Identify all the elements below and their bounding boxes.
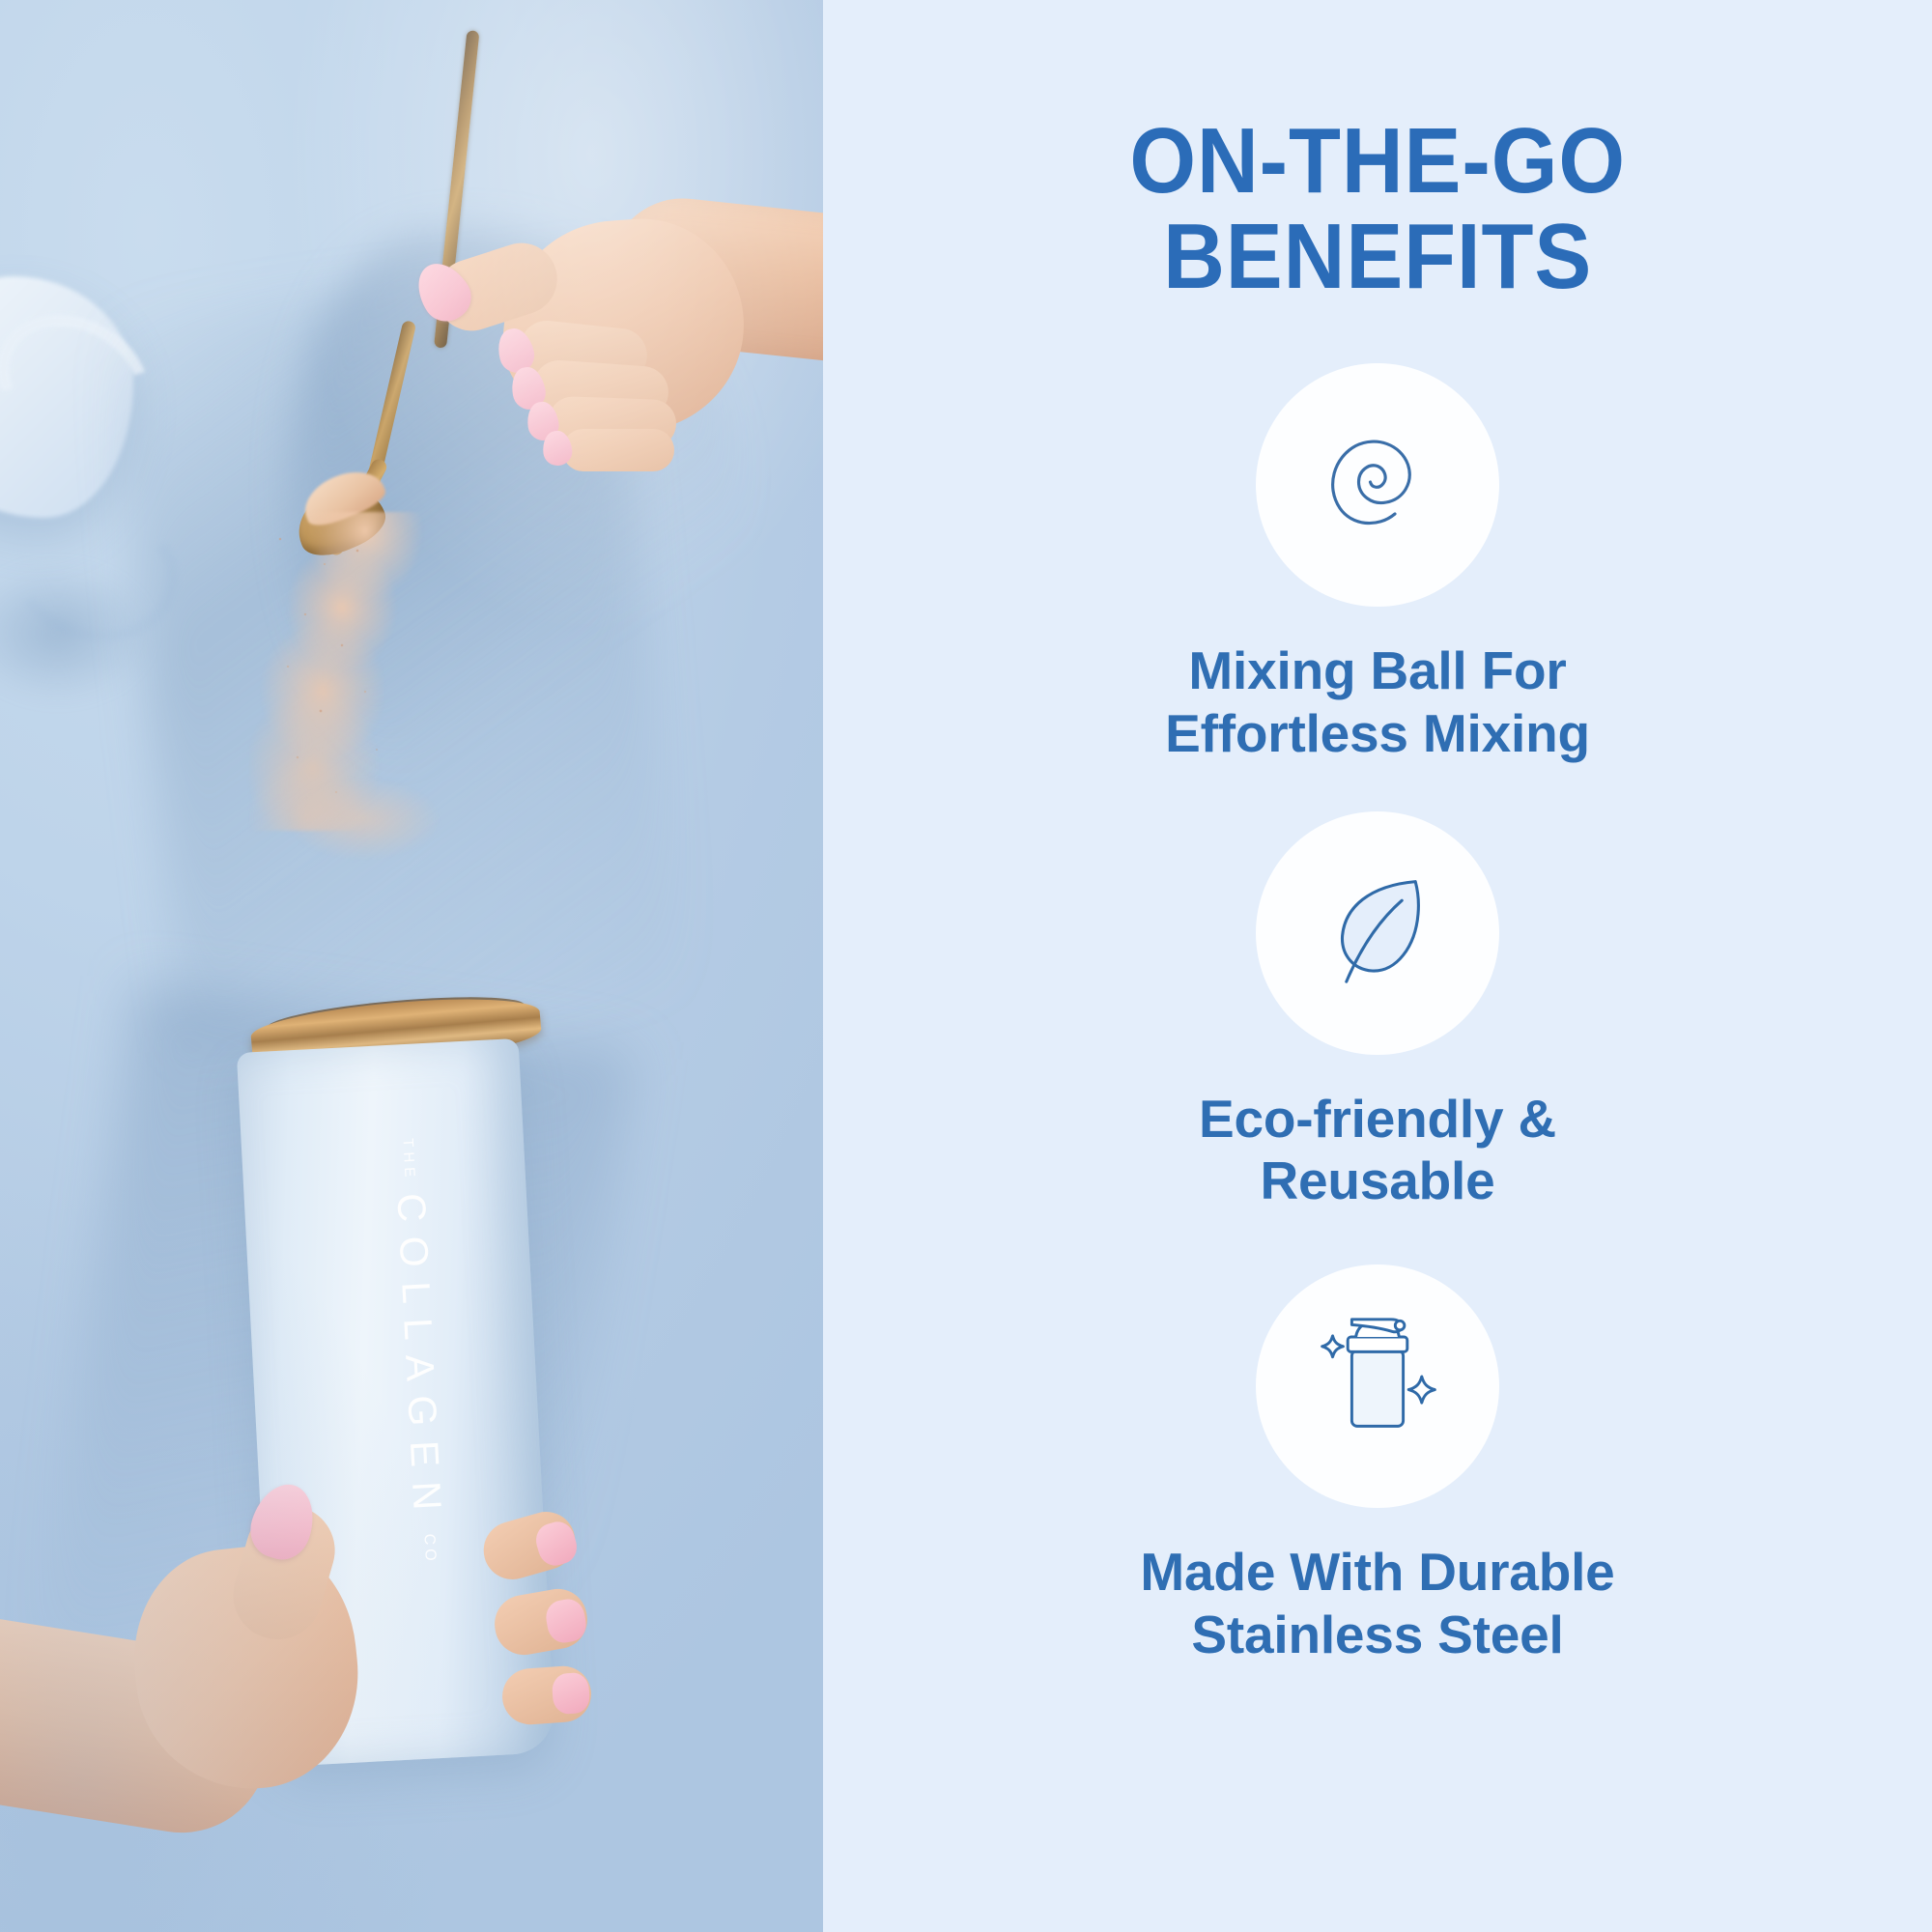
benefit-caption-2-line-1: Eco-friendly & [1199,1088,1556,1151]
benefit-caption-3-line-1: Made With Durable [1140,1541,1614,1604]
headline-line-2: BENEFITS [1129,210,1626,305]
benefit-caption-2-line-2: Reusable [1199,1150,1556,1212]
benefit-caption-1: Mixing Ball For Effortless Mixing [1165,639,1590,765]
spiral-icon [1305,410,1450,559]
powder-spray [290,773,473,889]
benefit-icon-circle-1 [1256,363,1499,607]
benefit-item-stainless-steel: Made With Durable Stainless Steel [1140,1264,1614,1666]
benefit-caption-3-line-2: Stainless Steel [1140,1604,1614,1666]
benefit-caption-2: Eco-friendly & Reusable [1199,1088,1556,1213]
infographic-root: THE COLLAGEN CO ON-THE-GO BENEFITS [0,0,1932,1932]
hand-holding-spoon [319,97,823,522]
shaker-bottle-icon [1296,1303,1459,1470]
benefit-item-eco-friendly: Eco-friendly & Reusable [1199,811,1556,1213]
benefit-caption-3: Made With Durable Stainless Steel [1140,1541,1614,1666]
brand-prefix-text: THE [399,1138,417,1182]
benefits-panel: ON-THE-GO BENEFITS Mixing Ball For Effor… [823,0,1932,1932]
hand-holding-tumbler [0,1343,618,1932]
benefit-item-mixing-ball: Mixing Ball For Effortless Mixing [1165,363,1590,765]
benefit-caption-1-line-1: Mixing Ball For [1165,639,1590,702]
headline-line-1: ON-THE-GO [1129,114,1626,210]
page-title: ON-THE-GO BENEFITS [1129,114,1626,305]
benefit-caption-1-line-2: Effortless Mixing [1165,702,1590,765]
leaf-icon [1310,863,1445,1003]
finger-pinky [562,429,674,471]
product-photo-panel: THE COLLAGEN CO [0,0,823,1932]
nail-finger-3 [552,1672,591,1716]
benefit-icon-circle-3 [1256,1264,1499,1508]
benefit-icon-circle-2 [1256,811,1499,1055]
